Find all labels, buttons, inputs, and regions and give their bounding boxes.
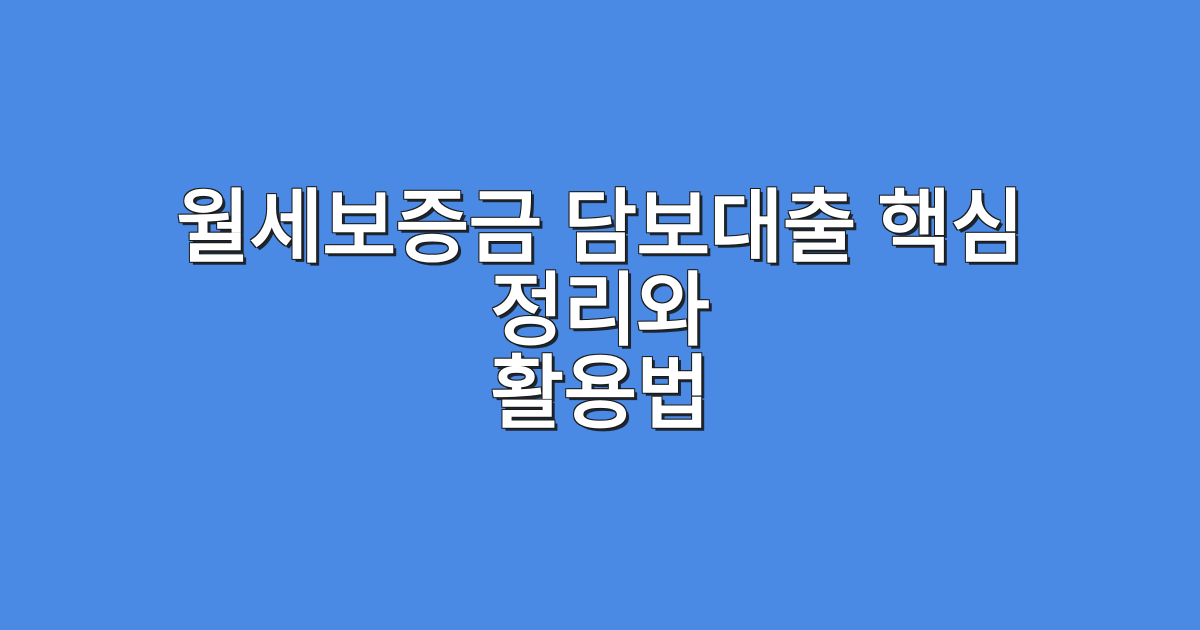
headline-line-2: 활용법 <box>85 352 1115 435</box>
headline-block: 월세보증금 담보대출 핵심 정리와 활용법 <box>85 186 1115 435</box>
headline-line-1: 월세보증금 담보대출 핵심 정리와 <box>85 186 1115 352</box>
thumbnail-card: 월세보증금 담보대출 핵심 정리와 활용법 <box>0 0 1200 630</box>
